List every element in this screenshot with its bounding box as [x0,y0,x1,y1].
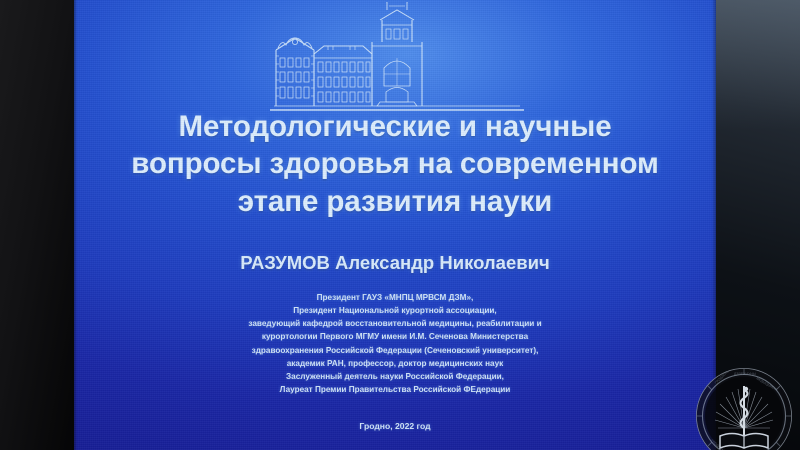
gdmu-university-seal-icon: ГРОДЗЕНСКI ДЗЯРЖАУНЫ МЕДЫЦЫНСКI ГРОДНЕНС… [694,366,794,450]
credentials-line: Лауреат Премии Правительства Российской … [72,383,718,396]
credentials-line: Президент ГАУЗ «МНПЦ МРВСМ ДЗМ», [72,291,718,304]
page-title: Методологические и научные вопросы здоро… [72,108,718,220]
credentials-line: здравоохранения Российской Федерации (Се… [72,344,718,357]
room-left-wall [0,0,74,450]
projected-slide: Методологические и научные вопросы здоро… [72,0,718,450]
credentials-line: Заслуженный деятель науки Российской Фед… [72,370,718,383]
credentials-line: курортологии Первого МГМУ имени И.М. Сеч… [72,330,718,343]
title-line-1: Методологические и научные [72,108,718,145]
speaker-credentials: Президент ГАУЗ «МНПЦ МРВСМ ДЗМ», Президе… [72,291,718,396]
credentials-line: академик РАН, профессор, доктор медицинс… [72,357,718,370]
presentation-photo: Методологические и научные вопросы здоро… [0,0,800,450]
speaker-name: РАЗУМОВ Александр Николаевич [72,252,718,274]
title-line-2: вопросы здоровья на современном [72,145,718,182]
svg-text:ДЗЯРЖАУНЫ: ДЗЯРЖАУНЫ [734,372,756,376]
university-building-icon [268,2,526,114]
credentials-line: заведующий кафедрой восстановительной ме… [72,317,718,330]
place-and-date: Гродно, 2022 год [72,421,718,431]
title-line-3: этапе развития науки [72,183,718,220]
credentials-line: Президент Национальной курортной ассоциа… [72,304,718,317]
